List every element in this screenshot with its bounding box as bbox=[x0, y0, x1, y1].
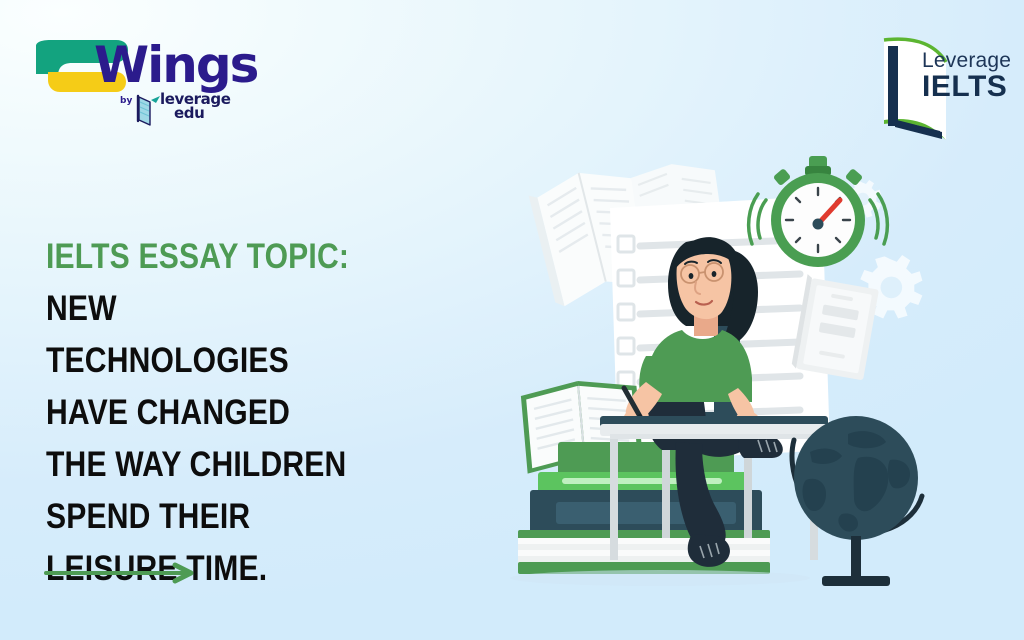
wings-sublogo: leverage edu bbox=[160, 92, 231, 120]
headline-body: NEW TECHNOLOGIES HAVE CHANGED THE WAY CH… bbox=[46, 289, 346, 588]
ielts-logo-line1: Leverage bbox=[922, 50, 1011, 72]
student-writing-exam-illustration bbox=[500, 150, 980, 590]
page-title: IELTS ESSAY TOPIC: NEW TECHNOLOGIES HAVE… bbox=[46, 231, 356, 595]
ground-shadow bbox=[510, 570, 810, 586]
arrow-right-icon[interactable] bbox=[44, 560, 204, 586]
wings-by-label: by bbox=[120, 96, 132, 106]
wings-wordmark: Wings bbox=[94, 40, 257, 90]
headline-lead: IELTS ESSAY TOPIC: bbox=[46, 237, 349, 276]
wings-sub-line2: edu bbox=[174, 106, 231, 120]
ielts-logo-text: Leverage IELTS bbox=[922, 50, 1011, 102]
leverage-ielts-logo[interactable]: Leverage IELTS bbox=[862, 28, 1002, 146]
globe-icon bbox=[792, 416, 922, 586]
ielts-logo-line2: IELTS bbox=[922, 72, 1011, 102]
banner-canvas: Wings by leverage edu Leverage IELTS bbox=[0, 0, 1024, 640]
wings-logo[interactable]: Wings by leverage edu bbox=[32, 26, 242, 138]
book-icon bbox=[136, 94, 162, 128]
